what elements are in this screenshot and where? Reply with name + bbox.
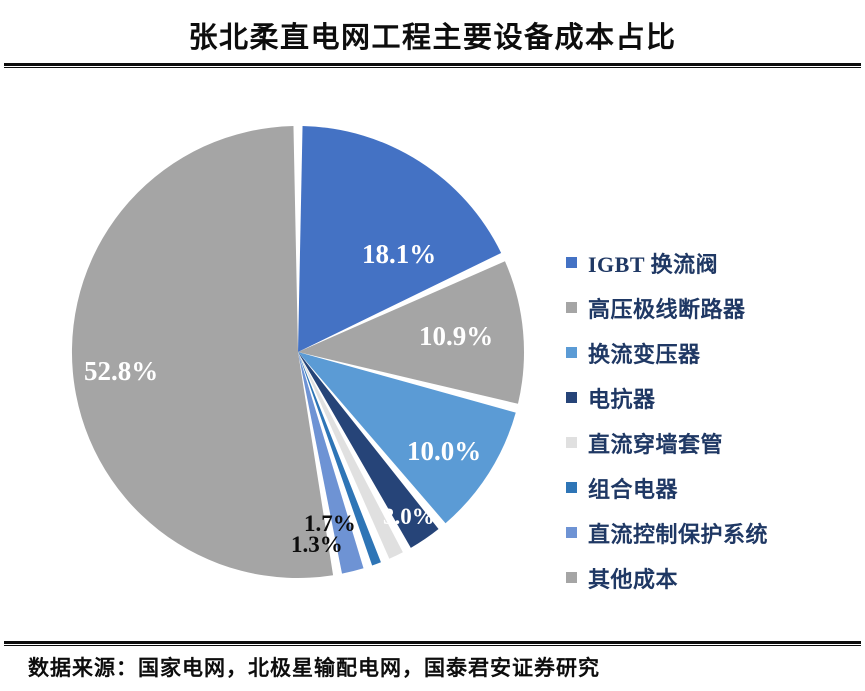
legend-label: 直流穿墙套管 — [588, 427, 723, 459]
source-note: 数据来源：国家电网，北极星输配电网，国泰君安证券研究 — [28, 652, 600, 682]
legend-item-other[interactable]: 其他成本 — [566, 555, 856, 600]
legend-label: IGBT 换流阀 — [588, 247, 718, 279]
footer-divider-thick — [4, 641, 861, 644]
legend-swatch-icon — [566, 482, 577, 493]
legend-item-reactor[interactable]: 电抗器 — [566, 375, 856, 420]
legend-item-igbt[interactable]: IGBT 换流阀 — [566, 240, 856, 285]
legend-label: 组合电器 — [588, 472, 678, 504]
legend-swatch-icon — [566, 437, 577, 448]
legend-label: 电抗器 — [588, 382, 656, 414]
chart-figure: 张北柔直电网工程主要设备成本占比 18.1% 10.9% 10.0% 3.0% … — [0, 0, 865, 691]
title-divider-thick — [4, 63, 861, 66]
footer-divider-thin — [4, 645, 861, 646]
legend-item-bushing[interactable]: 直流穿墙套管 — [566, 420, 856, 465]
legend-label: 换流变压器 — [588, 337, 701, 369]
pie-slice[interactable] — [72, 126, 333, 578]
legend-swatch-icon — [566, 572, 577, 583]
legend-swatch-icon — [566, 527, 577, 538]
legend-item-transformer[interactable]: 换流变压器 — [566, 330, 856, 375]
legend: IGBT 换流阀 高压极线断路器 换流变压器 电抗器 直流穿墙套管 组合电器 — [566, 240, 856, 600]
legend-swatch-icon — [566, 257, 577, 268]
legend-label: 高压极线断路器 — [588, 292, 746, 324]
legend-swatch-icon — [566, 347, 577, 358]
legend-label: 其他成本 — [588, 562, 678, 594]
legend-swatch-icon — [566, 392, 577, 403]
legend-item-gis[interactable]: 组合电器 — [566, 465, 856, 510]
pie-slice-group — [72, 126, 524, 578]
legend-label: 直流控制保护系统 — [588, 517, 768, 549]
page-title: 张北柔直电网工程主要设备成本占比 — [0, 14, 865, 56]
legend-item-breaker[interactable]: 高压极线断路器 — [566, 285, 856, 330]
legend-item-control[interactable]: 直流控制保护系统 — [566, 510, 856, 555]
title-divider-thin — [4, 67, 861, 68]
plot-area: 18.1% 10.9% 10.0% 3.0% 1.7% 1.3% 52.8% I… — [0, 80, 865, 640]
legend-swatch-icon — [566, 302, 577, 313]
